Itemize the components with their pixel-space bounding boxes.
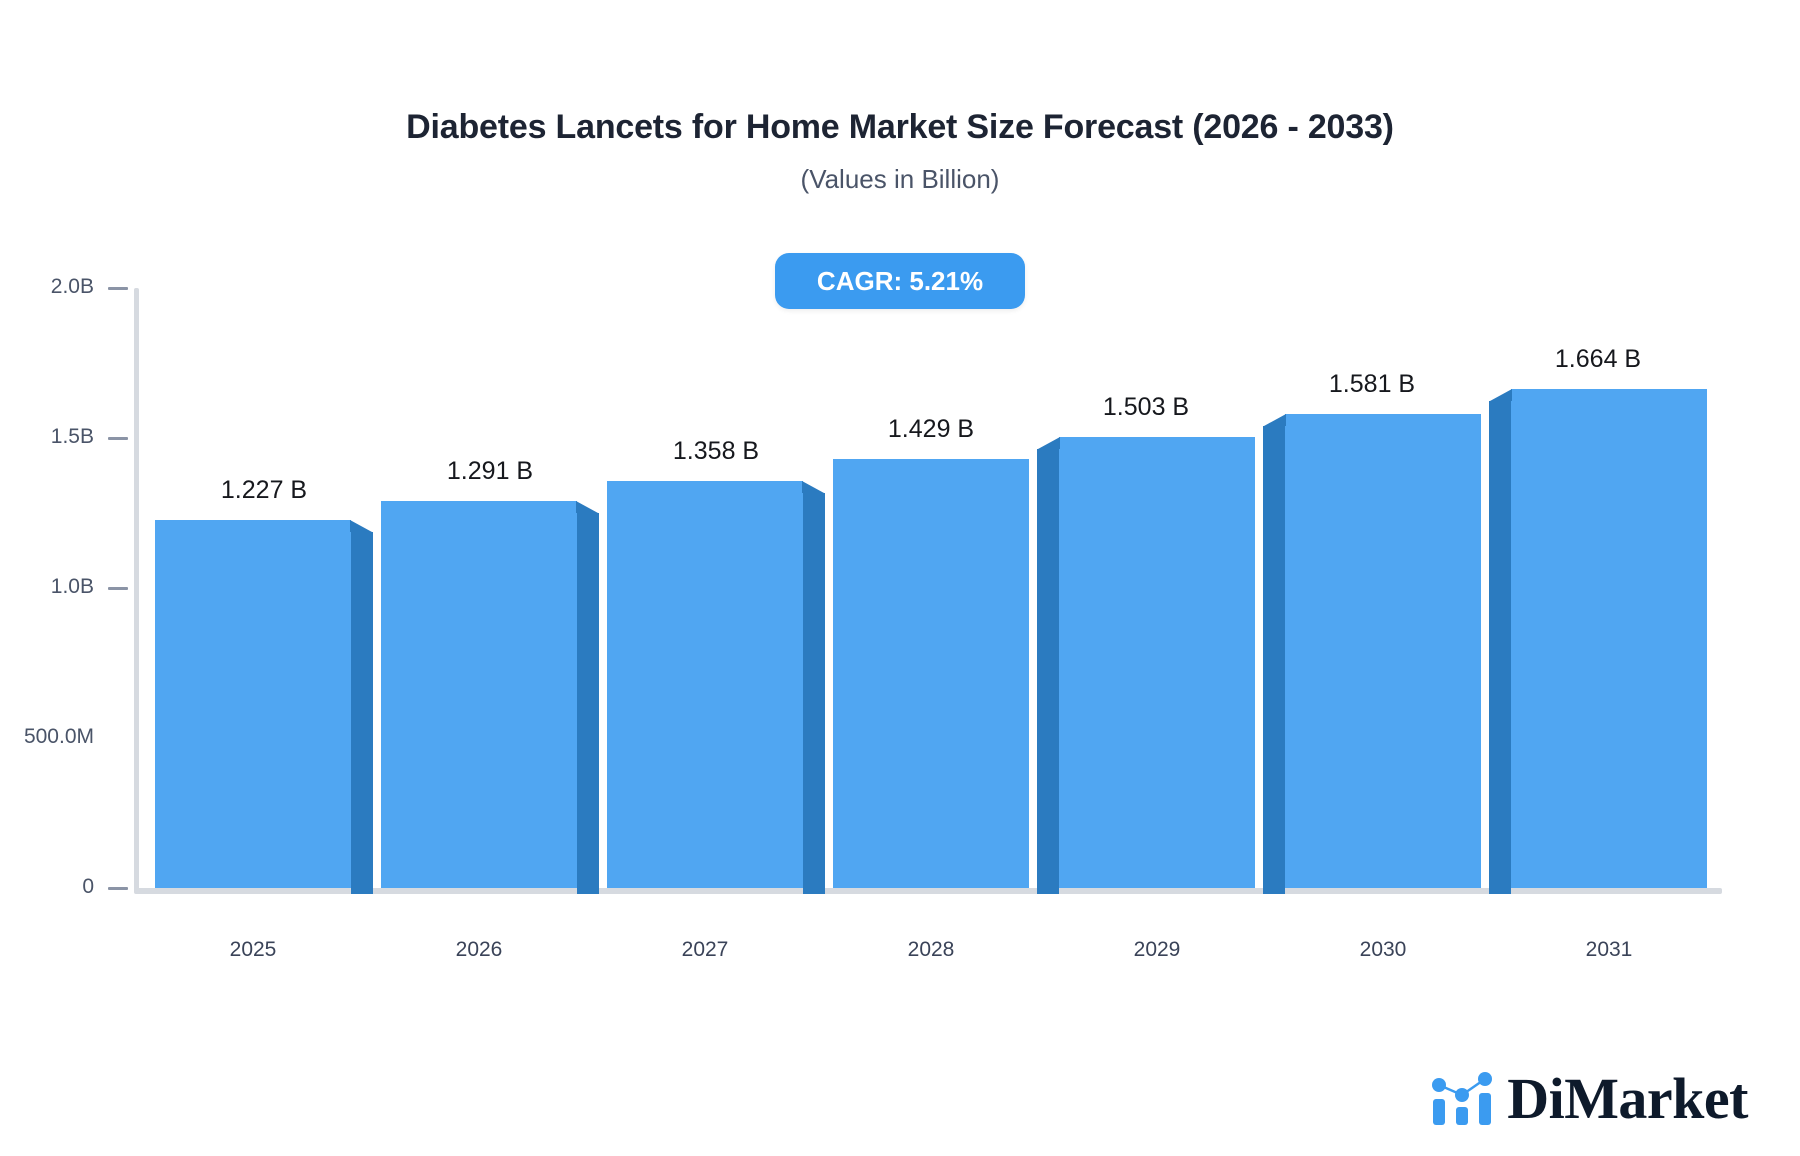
brand-name: DiMarket [1507,1070,1748,1128]
bar-side-face [1263,426,1285,894]
bar-column[interactable]: 1.227 B [155,270,351,888]
bar[interactable]: 1.429 B [833,459,1029,888]
y-axis-tick-mark [108,287,128,290]
bar-series: 1.227 B1.291 B1.358 B1.429 B1.503 B1.581… [140,270,1722,894]
bar-value-label: 1.291 B [392,457,588,486]
x-axis-label: 2026 [381,938,577,962]
bar[interactable]: 1.581 B [1285,414,1481,888]
bar-front-face [1059,437,1255,888]
x-axis-label: 2027 [607,938,803,962]
bar[interactable]: 1.358 B [607,481,803,888]
chart-header: Diabetes Lancets for Home Market Size Fo… [0,0,1800,195]
bar-front-face [1511,389,1707,888]
x-axis-labels: 2025202620272028202920302031 [140,938,1722,978]
y-axis-tick-mark [108,587,128,590]
y-axis-tick-label: 2.0B [51,275,94,299]
chart-subtitle: (Values in Billion) [0,165,1800,195]
x-axis-label: 2025 [155,938,351,962]
x-axis-label: 2029 [1059,938,1255,962]
brand-logo: DiMarket [1431,1070,1748,1128]
bar-front-face [1285,414,1481,888]
bar-front-face [607,481,803,888]
bar-front-face [155,520,351,888]
y-axis-tick-label: 1.0B [51,575,94,599]
y-axis-tick-label: 0 [82,875,94,899]
bar-column[interactable]: 1.358 B [607,270,803,888]
bar-value-label: 1.664 B [1500,345,1696,374]
bar-value-label: 1.503 B [1048,393,1244,422]
y-axis-tick-mark [108,437,128,440]
bar-side-face [351,532,373,894]
bar-column[interactable]: 1.291 B [381,270,577,888]
y-axis-line [134,288,139,892]
bar[interactable]: 1.291 B [381,501,577,888]
x-axis-label: 2031 [1511,938,1707,962]
bar-value-label: 1.227 B [166,476,362,505]
y-axis-tick-label: 1.5B [51,425,94,449]
bar-chart-logo-icon [1431,1071,1493,1127]
bar-side-face [1037,449,1059,894]
bar-column[interactable]: 1.664 B [1511,270,1707,888]
bar-value-label: 1.581 B [1274,370,1470,399]
bar-side-face [577,513,599,894]
y-axis-tick-label: 500.0M [24,725,94,749]
bar[interactable]: 1.664 B [1511,389,1707,888]
chart-plot-area: 0500.0M1.0B1.5B2.0B 1.227 B1.291 B1.358 … [0,270,1800,930]
bar-front-face [381,501,577,888]
bar[interactable]: 1.227 B [155,520,351,888]
bar-column[interactable]: 1.581 B [1285,270,1481,888]
bar-front-face [833,459,1029,888]
bar-column[interactable]: 1.503 B [1059,270,1255,888]
bar-side-face [1489,401,1511,894]
page-title: Diabetes Lancets for Home Market Size Fo… [0,108,1800,147]
bar-column[interactable]: 1.429 B [833,270,1029,888]
y-axis-tick-mark [108,887,128,890]
bar-side-face [803,493,825,894]
bar-value-label: 1.358 B [618,437,814,466]
bar[interactable]: 1.503 B [1059,437,1255,888]
x-axis-label: 2030 [1285,938,1481,962]
x-axis-label: 2028 [833,938,1029,962]
bar-value-label: 1.429 B [833,415,1029,444]
